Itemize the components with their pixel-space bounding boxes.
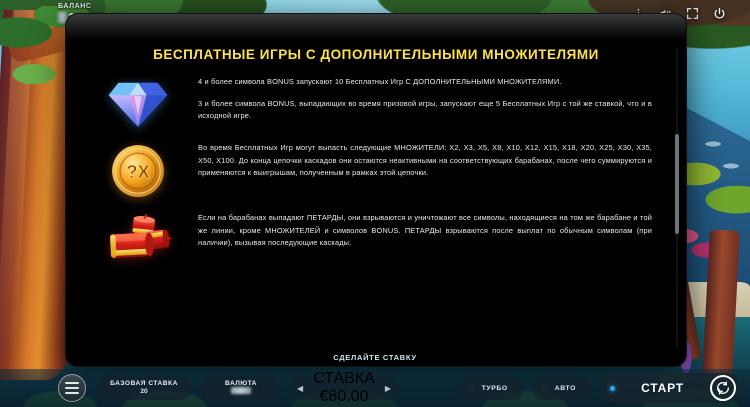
currency-label: ВАЛЮТА [225,380,257,388]
hamburger-menu-icon[interactable] [58,374,86,402]
multiplier-coin-icon: ?X [111,144,165,198]
info-paytable-modal: БЕСПЛАТНЫЕ ИГРЫ С ДОПОЛНИТЕЛЬНЫМИ МНОЖИТ… [66,14,686,366]
fullscreen-icon[interactable] [686,7,699,20]
bottom-control-bar: СДЕЛАЙТЕ СТАВКУ БАЗОВАЯ СТАВКА 20 ВАЛЮТА… [0,369,750,407]
power-icon[interactable] [713,7,726,20]
menu-line [65,382,79,384]
firecracker-icon [105,214,171,268]
turbo-label: ТУРБО [482,385,508,392]
rule-icon-slot [92,76,184,128]
start-label: СТАРТ [623,381,702,395]
base-bet-label: БАЗОВАЯ СТАВКА [110,380,178,388]
start-button[interactable]: СТАРТ [600,373,740,403]
stake-value: €80.00 [309,388,379,406]
right-controls: ТУРБО АВТО СТАРТ [459,373,750,403]
diamond-gem-icon [107,78,169,128]
base-bet-button[interactable]: БАЗОВАЯ СТАВКА 20 [96,376,192,400]
turbo-toggle[interactable]: ТУРБО [459,376,524,400]
turbo-indicator [469,386,474,391]
auto-toggle[interactable]: АВТО [532,376,592,400]
rule-paragraph: Если на барабанах выпадают ПЕТАРДЫ, они … [198,212,652,250]
currency-button[interactable]: ВАЛЮТА [202,376,280,400]
rule-row: ?X Во время Бесплатных Игр могут выпасть… [92,142,652,198]
bird-shape [718,162,744,170]
rule-row: Если на барабанах выпадают ПЕТАРДЫ, они … [92,212,652,268]
auto-label: АВТО [555,385,576,392]
currency-symbol-redacted [58,12,67,23]
base-bet-value: 20 [140,388,147,396]
modal-scrollbar-thumb[interactable] [675,134,679,234]
bird-shape [700,140,726,148]
chevron-right-icon[interactable]: ▶ [385,384,391,393]
rule-icon-slot [92,212,184,268]
rule-text: 4 и более символа BONUS запускают 10 Бес… [198,76,652,123]
menu-line [65,387,79,389]
stake-display[interactable]: СТАВКА €80.00 [309,370,379,406]
rule-paragraph: Во время Бесплатных Игр могут выпасть сл… [198,142,652,180]
rule-text: Во время Бесплатных Игр могут выпасть сл… [198,142,652,180]
modal-body: 4 и более символа BONUS запускают 10 Бес… [66,62,686,366]
start-indicator [610,386,615,391]
modal-top-sheen [66,14,686,40]
rule-icon-slot: ?X [92,142,184,198]
rule-paragraph: 3 и более символа BONUS, выпадающих во в… [198,98,652,123]
chevron-left-icon[interactable]: ◀ [297,384,303,393]
modal-title: БЕСПЛАТНЫЕ ИГРЫ С ДОПОЛНИТЕЛЬНЫМИ МНОЖИТ… [66,47,686,62]
currency-value-redacted [231,387,251,396]
bet-prompt-text: СДЕЛАЙТЕ СТАВКУ [0,353,750,362]
spin-refresh-icon[interactable] [710,375,736,401]
balance-label: БАЛАНС [58,3,126,10]
stake-label: СТАВКА [309,370,379,388]
menu-line [65,392,79,394]
auto-indicator [542,386,547,391]
rule-text: Если на барабанах выпадают ПЕТАРДЫ, они … [198,212,652,250]
stake-stepper: ◀ СТАВКА €80.00 ▶ [290,376,398,400]
rule-paragraph: 4 и более символа BONUS запускают 10 Бес… [198,76,652,89]
coin-label: ?X [126,161,150,182]
rule-row: 4 и более символа BONUS запускают 10 Бес… [92,76,652,128]
